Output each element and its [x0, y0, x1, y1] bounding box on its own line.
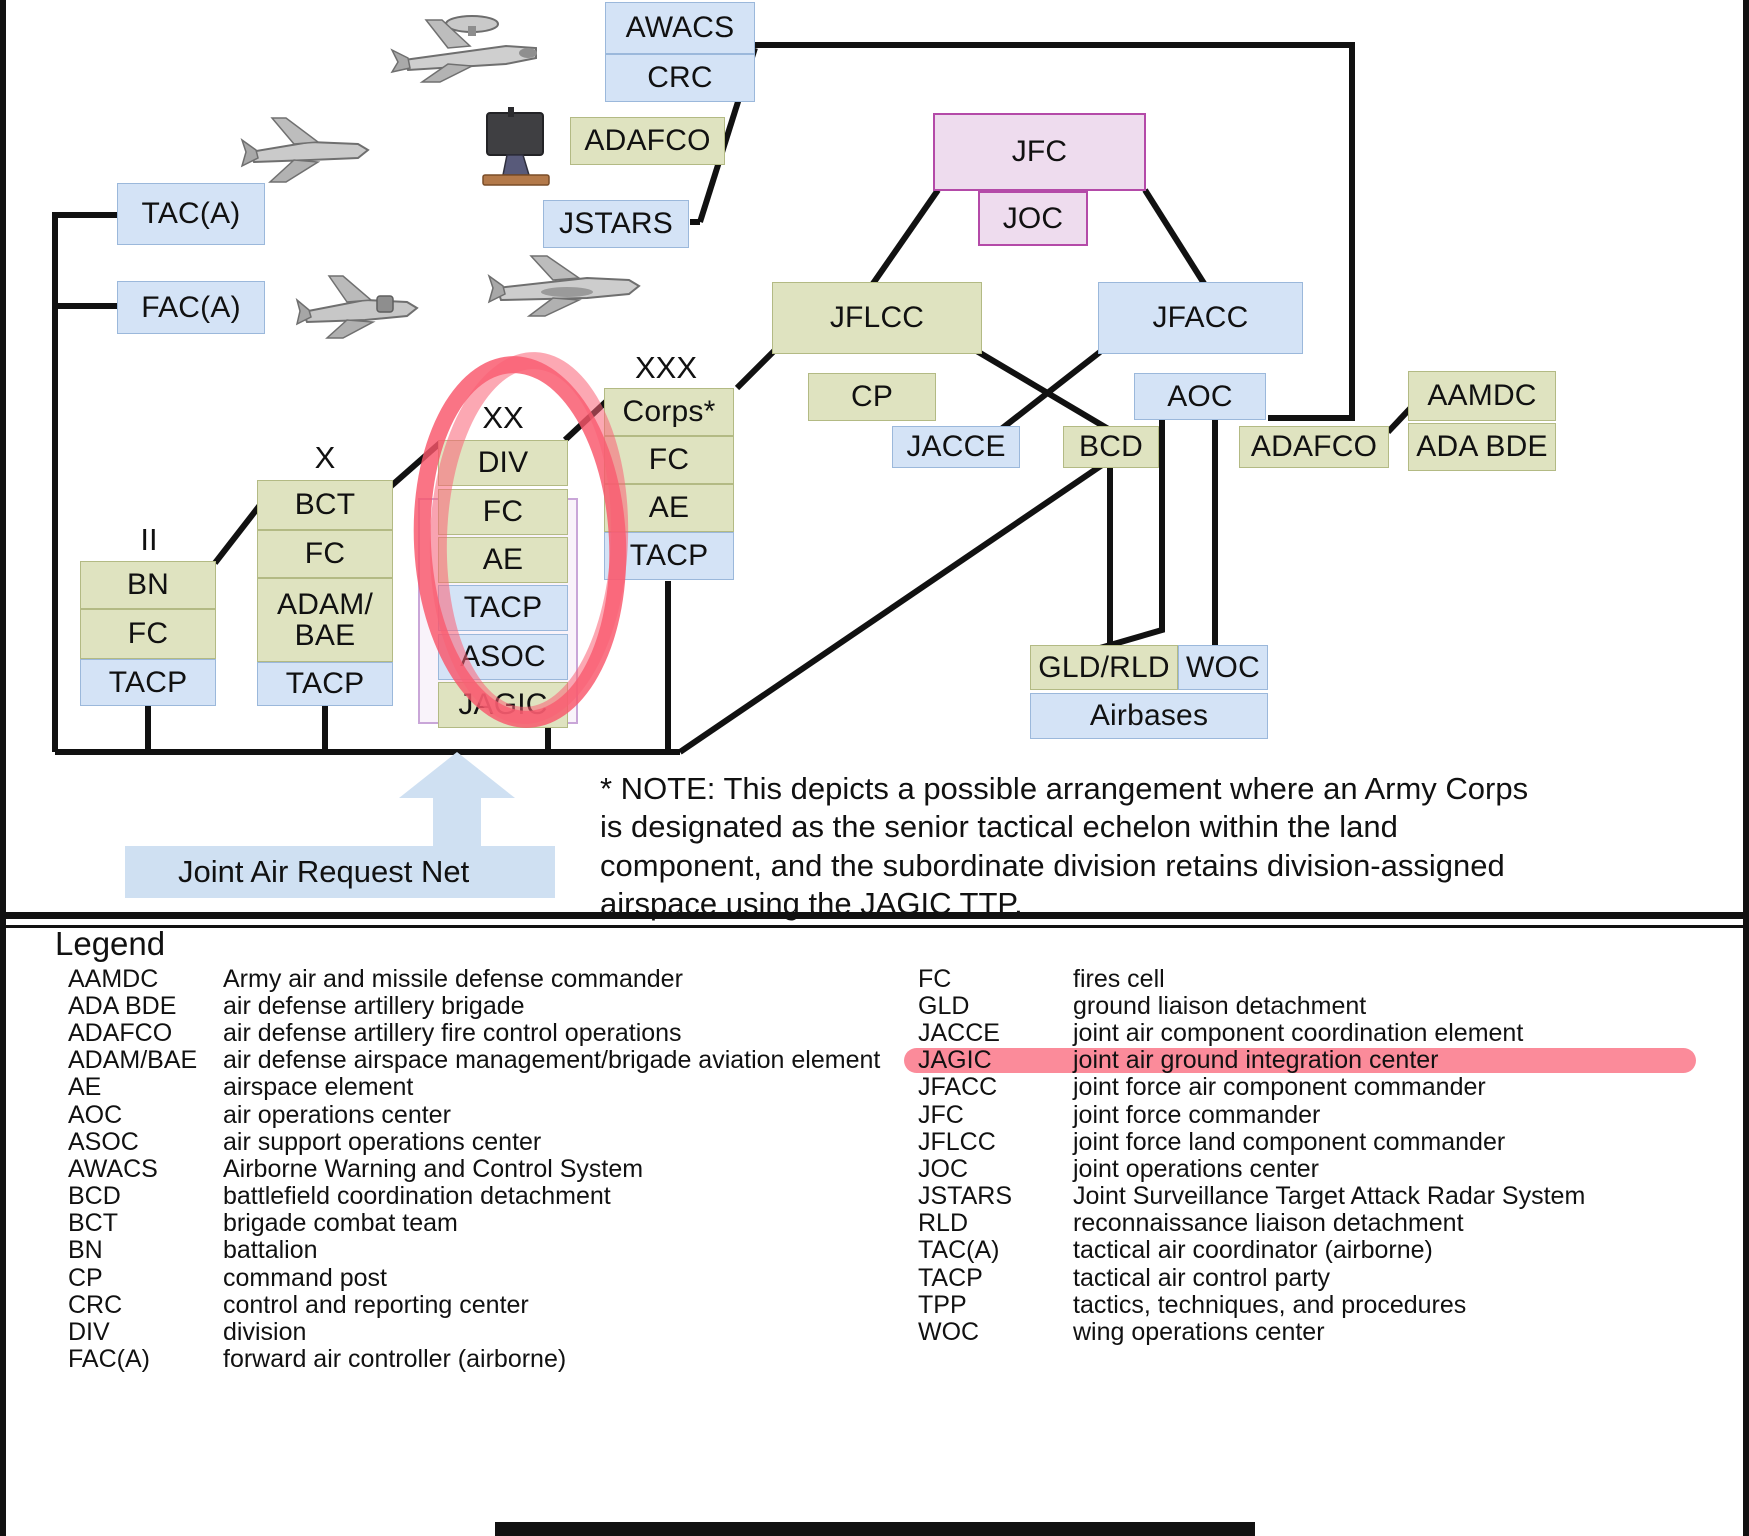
legend-divider-top — [0, 912, 1749, 919]
ground-radar-icon — [473, 105, 559, 193]
legend-row: BCTbrigade combat team — [68, 1210, 928, 1237]
node-jacce[interactable]: JACCE — [892, 426, 1020, 468]
legend-definition: airspace element — [223, 1073, 928, 1101]
node-jstars[interactable]: JSTARS — [543, 200, 689, 248]
legend-row: JFACCjoint force air component commander — [918, 1074, 1738, 1101]
node-woc[interactable]: WOC — [1178, 645, 1268, 690]
diagram-note: * NOTE: This depicts a possible arrangem… — [600, 770, 1530, 924]
legend-definition: joint force commander — [1073, 1101, 1738, 1129]
page-bottom-bar — [495, 1522, 1255, 1536]
legend-row: JFLCCjoint force land component commande… — [918, 1128, 1738, 1155]
legend-abbreviation: JAGIC — [918, 1046, 1073, 1074]
legend-row: ADA BDEair defense artillery brigade — [68, 992, 928, 1019]
node-ada-bde[interactable]: ADA BDE — [1408, 423, 1556, 471]
echelon-header-x: X — [262, 440, 388, 476]
legend-row: ASOCair support operations center — [68, 1128, 928, 1155]
legend-row: JSTARSJoint Surveillance Target Attack R… — [918, 1183, 1738, 1210]
legend-row: CPcommand post — [68, 1264, 928, 1291]
legend-abbreviation: ADAFCO — [68, 1019, 223, 1047]
echelon-header-xxx: XXX — [606, 350, 726, 386]
legend-column-right: FCfires cellGLDground liaison detachment… — [918, 965, 1738, 1346]
jstars-aircraft-icon — [487, 252, 645, 318]
legend-definition: joint operations center — [1073, 1155, 1738, 1183]
legend-definition: control and reporting center — [223, 1291, 928, 1319]
legend-abbreviation: ADAM/BAE — [68, 1046, 223, 1074]
legend-definition: joint air component coordination element — [1073, 1019, 1738, 1047]
node-fac-a[interactable]: FAC(A) — [117, 281, 265, 334]
legend-abbreviation: TACP — [918, 1264, 1073, 1292]
legend-definition: fires cell — [1073, 965, 1738, 993]
node-bct-tacp[interactable]: TACP — [257, 662, 393, 706]
legend-definition: joint force land component commander — [1073, 1128, 1738, 1156]
legend-row: BNbattalion — [68, 1237, 928, 1264]
joint-air-request-net-label: Joint Air Request Net — [178, 850, 498, 894]
legend-row: AEairspace element — [68, 1074, 928, 1101]
legend-abbreviation: BN — [68, 1236, 223, 1264]
echelon-header-ii: II — [88, 522, 210, 558]
legend-abbreviation: JSTARS — [918, 1182, 1073, 1210]
legend-row: JAGICjoint air ground integration center — [918, 1047, 1738, 1074]
legend-abbreviation: AOC — [68, 1101, 223, 1129]
node-bct-fc[interactable]: FC — [257, 530, 393, 578]
node-bn-fc[interactable]: FC — [80, 609, 216, 659]
node-joc[interactable]: JOC — [978, 191, 1088, 246]
legend-row: AWACSAirborne Warning and Control System — [68, 1155, 928, 1182]
legend-definition: brigade combat team — [223, 1209, 928, 1237]
joint-air-request-arrowshaft — [433, 788, 481, 850]
legend-row: ADAFCOair defense artillery fire control… — [68, 1019, 928, 1046]
node-corps[interactable]: Corps* — [604, 388, 734, 436]
legend-definition: ground liaison detachment — [1073, 992, 1738, 1020]
legend-definition: air defense airspace management/brigade … — [223, 1046, 928, 1074]
legend-definition: tactics, techniques, and procedures — [1073, 1291, 1738, 1319]
legend-definition: air defense artillery brigade — [223, 992, 928, 1020]
fighter-jet-icon — [240, 112, 372, 186]
legend-row: GLDground liaison detachment — [918, 992, 1738, 1019]
legend-row: RLDreconnaissance liaison detachment — [918, 1210, 1738, 1237]
node-aoc[interactable]: AOC — [1134, 373, 1266, 420]
legend-row: DIVdivision — [68, 1318, 928, 1345]
legend-abbreviation: ASOC — [68, 1128, 223, 1156]
node-bcd[interactable]: BCD — [1063, 426, 1159, 468]
node-gld-rld[interactable]: GLD/RLD — [1030, 645, 1178, 690]
node-adafco-right[interactable]: ADAFCO — [1239, 426, 1389, 468]
legend-definition: battalion — [223, 1236, 928, 1264]
legend-definition: command post — [223, 1264, 928, 1292]
legend-abbreviation: TAC(A) — [918, 1236, 1073, 1264]
legend-definition: air operations center — [223, 1101, 928, 1129]
legend-definition: battlefield coordination detachment — [223, 1182, 928, 1210]
awacs-aircraft-icon — [386, 8, 546, 86]
legend-abbreviation: BCD — [68, 1182, 223, 1210]
legend-definition: Airborne Warning and Control System — [223, 1155, 928, 1183]
legend-abbreviation: JOC — [918, 1155, 1073, 1183]
legend-row: AOCair operations center — [68, 1101, 928, 1128]
node-jfacc[interactable]: JFACC — [1098, 282, 1303, 354]
legend-row: BCDbattlefield coordination detachment — [68, 1183, 928, 1210]
node-adafco-top[interactable]: ADAFCO — [570, 117, 725, 165]
legend-abbreviation: AAMDC — [68, 965, 223, 993]
node-bn-tacp[interactable]: TACP — [80, 659, 216, 706]
legend-definition: reconnaissance liaison detachment — [1073, 1209, 1738, 1237]
legend-definition: Joint Surveillance Target Attack Radar S… — [1073, 1182, 1738, 1210]
node-awacs[interactable]: AWACS — [605, 2, 755, 54]
legend-column-left: AAMDCArmy air and missile defense comman… — [68, 965, 928, 1373]
legend-abbreviation: WOC — [918, 1318, 1073, 1346]
legend-definition: joint force air component commander — [1073, 1073, 1738, 1101]
legend-row: TACPtactical air control party — [918, 1264, 1738, 1291]
legend-abbreviation: AWACS — [68, 1155, 223, 1183]
legend-definition: air defense artillery fire control opera… — [223, 1019, 928, 1047]
legend-abbreviation: JACCE — [918, 1019, 1073, 1047]
attack-aircraft-icon — [295, 268, 423, 342]
legend-abbreviation: ADA BDE — [68, 992, 223, 1020]
node-crc[interactable]: CRC — [605, 54, 755, 102]
node-bct[interactable]: BCT — [257, 480, 393, 530]
legend-abbreviation: CRC — [68, 1291, 223, 1319]
legend-definition: tactical air coordinator (airborne) — [1073, 1236, 1738, 1264]
legend-title: Legend — [55, 925, 165, 963]
legend-row: TAC(A)tactical air coordinator (airborne… — [918, 1237, 1738, 1264]
legend-definition: Army air and missile defense commander — [223, 965, 928, 993]
legend-abbreviation: TPP — [918, 1291, 1073, 1319]
legend-abbreviation: FC — [918, 965, 1073, 993]
legend-abbreviation: FAC(A) — [68, 1345, 223, 1373]
legend-row: JOCjoint operations center — [918, 1155, 1738, 1182]
node-bct-adam-bae[interactable]: ADAM/ BAE — [257, 578, 393, 662]
node-tac-a[interactable]: TAC(A) — [117, 183, 265, 245]
node-cp[interactable]: CP — [808, 373, 936, 421]
legend-row: FCfires cell — [918, 965, 1738, 992]
node-bn[interactable]: BN — [80, 561, 216, 609]
legend-definition: air support operations center — [223, 1128, 928, 1156]
legend-abbreviation: JFACC — [918, 1073, 1073, 1101]
legend-abbreviation: JFC — [918, 1101, 1073, 1129]
legend-definition: division — [223, 1318, 928, 1346]
legend-definition: forward air controller (airborne) — [223, 1345, 928, 1373]
legend-row: FAC(A)forward air controller (airborne) — [68, 1346, 928, 1373]
legend-definition: tactical air control party — [1073, 1264, 1738, 1292]
legend-abbreviation: BCT — [68, 1209, 223, 1237]
legend-abbreviation: JFLCC — [918, 1128, 1073, 1156]
node-airbases[interactable]: Airbases — [1030, 693, 1268, 739]
legend-row: CRCcontrol and reporting center — [68, 1291, 928, 1318]
legend-abbreviation: CP — [68, 1264, 223, 1292]
legend-abbreviation: AE — [68, 1073, 223, 1101]
node-aamdc[interactable]: AAMDC — [1408, 371, 1556, 421]
node-jfc[interactable]: JFC — [933, 113, 1146, 191]
legend-row: TPPtactics, techniques, and procedures — [918, 1291, 1738, 1318]
legend-row: JACCEjoint air component coordination el… — [918, 1019, 1738, 1046]
legend-row: WOCwing operations center — [918, 1318, 1738, 1345]
legend-definition: wing operations center — [1073, 1318, 1738, 1346]
legend-row: ADAM/BAEair defense airspace management/… — [68, 1047, 928, 1074]
legend-definition: joint air ground integration center — [1073, 1046, 1738, 1074]
legend-row: JFCjoint force commander — [918, 1101, 1738, 1128]
legend-abbreviation: DIV — [68, 1318, 223, 1346]
legend-divider-bottom — [0, 925, 1749, 928]
legend-abbreviation: RLD — [918, 1209, 1073, 1237]
legend-abbreviation: GLD — [918, 992, 1073, 1020]
node-jflcc[interactable]: JFLCC — [772, 282, 982, 354]
legend-row: AAMDCArmy air and missile defense comman… — [68, 965, 928, 992]
